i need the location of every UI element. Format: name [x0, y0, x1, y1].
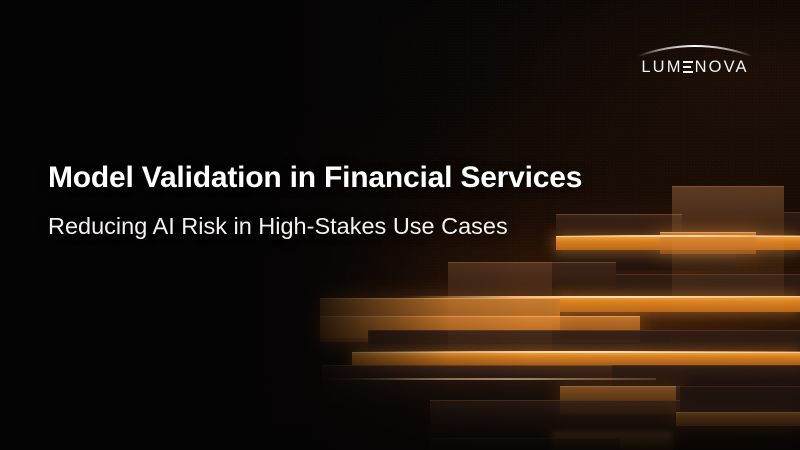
slide-title: Model Validation in Financial Services: [48, 160, 582, 196]
logo-wordmark: LUMNOVA: [634, 59, 756, 76]
logo-letter-e-glyph: [683, 61, 693, 73]
slide-canvas: LUMNOVA Model Validation in Financial Se…: [0, 0, 800, 450]
slide-subtitle: Reducing AI Risk in High-Stakes Use Case…: [48, 212, 582, 240]
logo-wordmark-part-1: LUM: [641, 58, 682, 76]
logo[interactable]: LUMNOVA: [634, 36, 756, 86]
logo-arc-icon: [634, 36, 756, 58]
heading-block: Model Validation in Financial Services R…: [48, 160, 582, 240]
logo-wordmark-part-2: NOVA: [695, 58, 749, 76]
